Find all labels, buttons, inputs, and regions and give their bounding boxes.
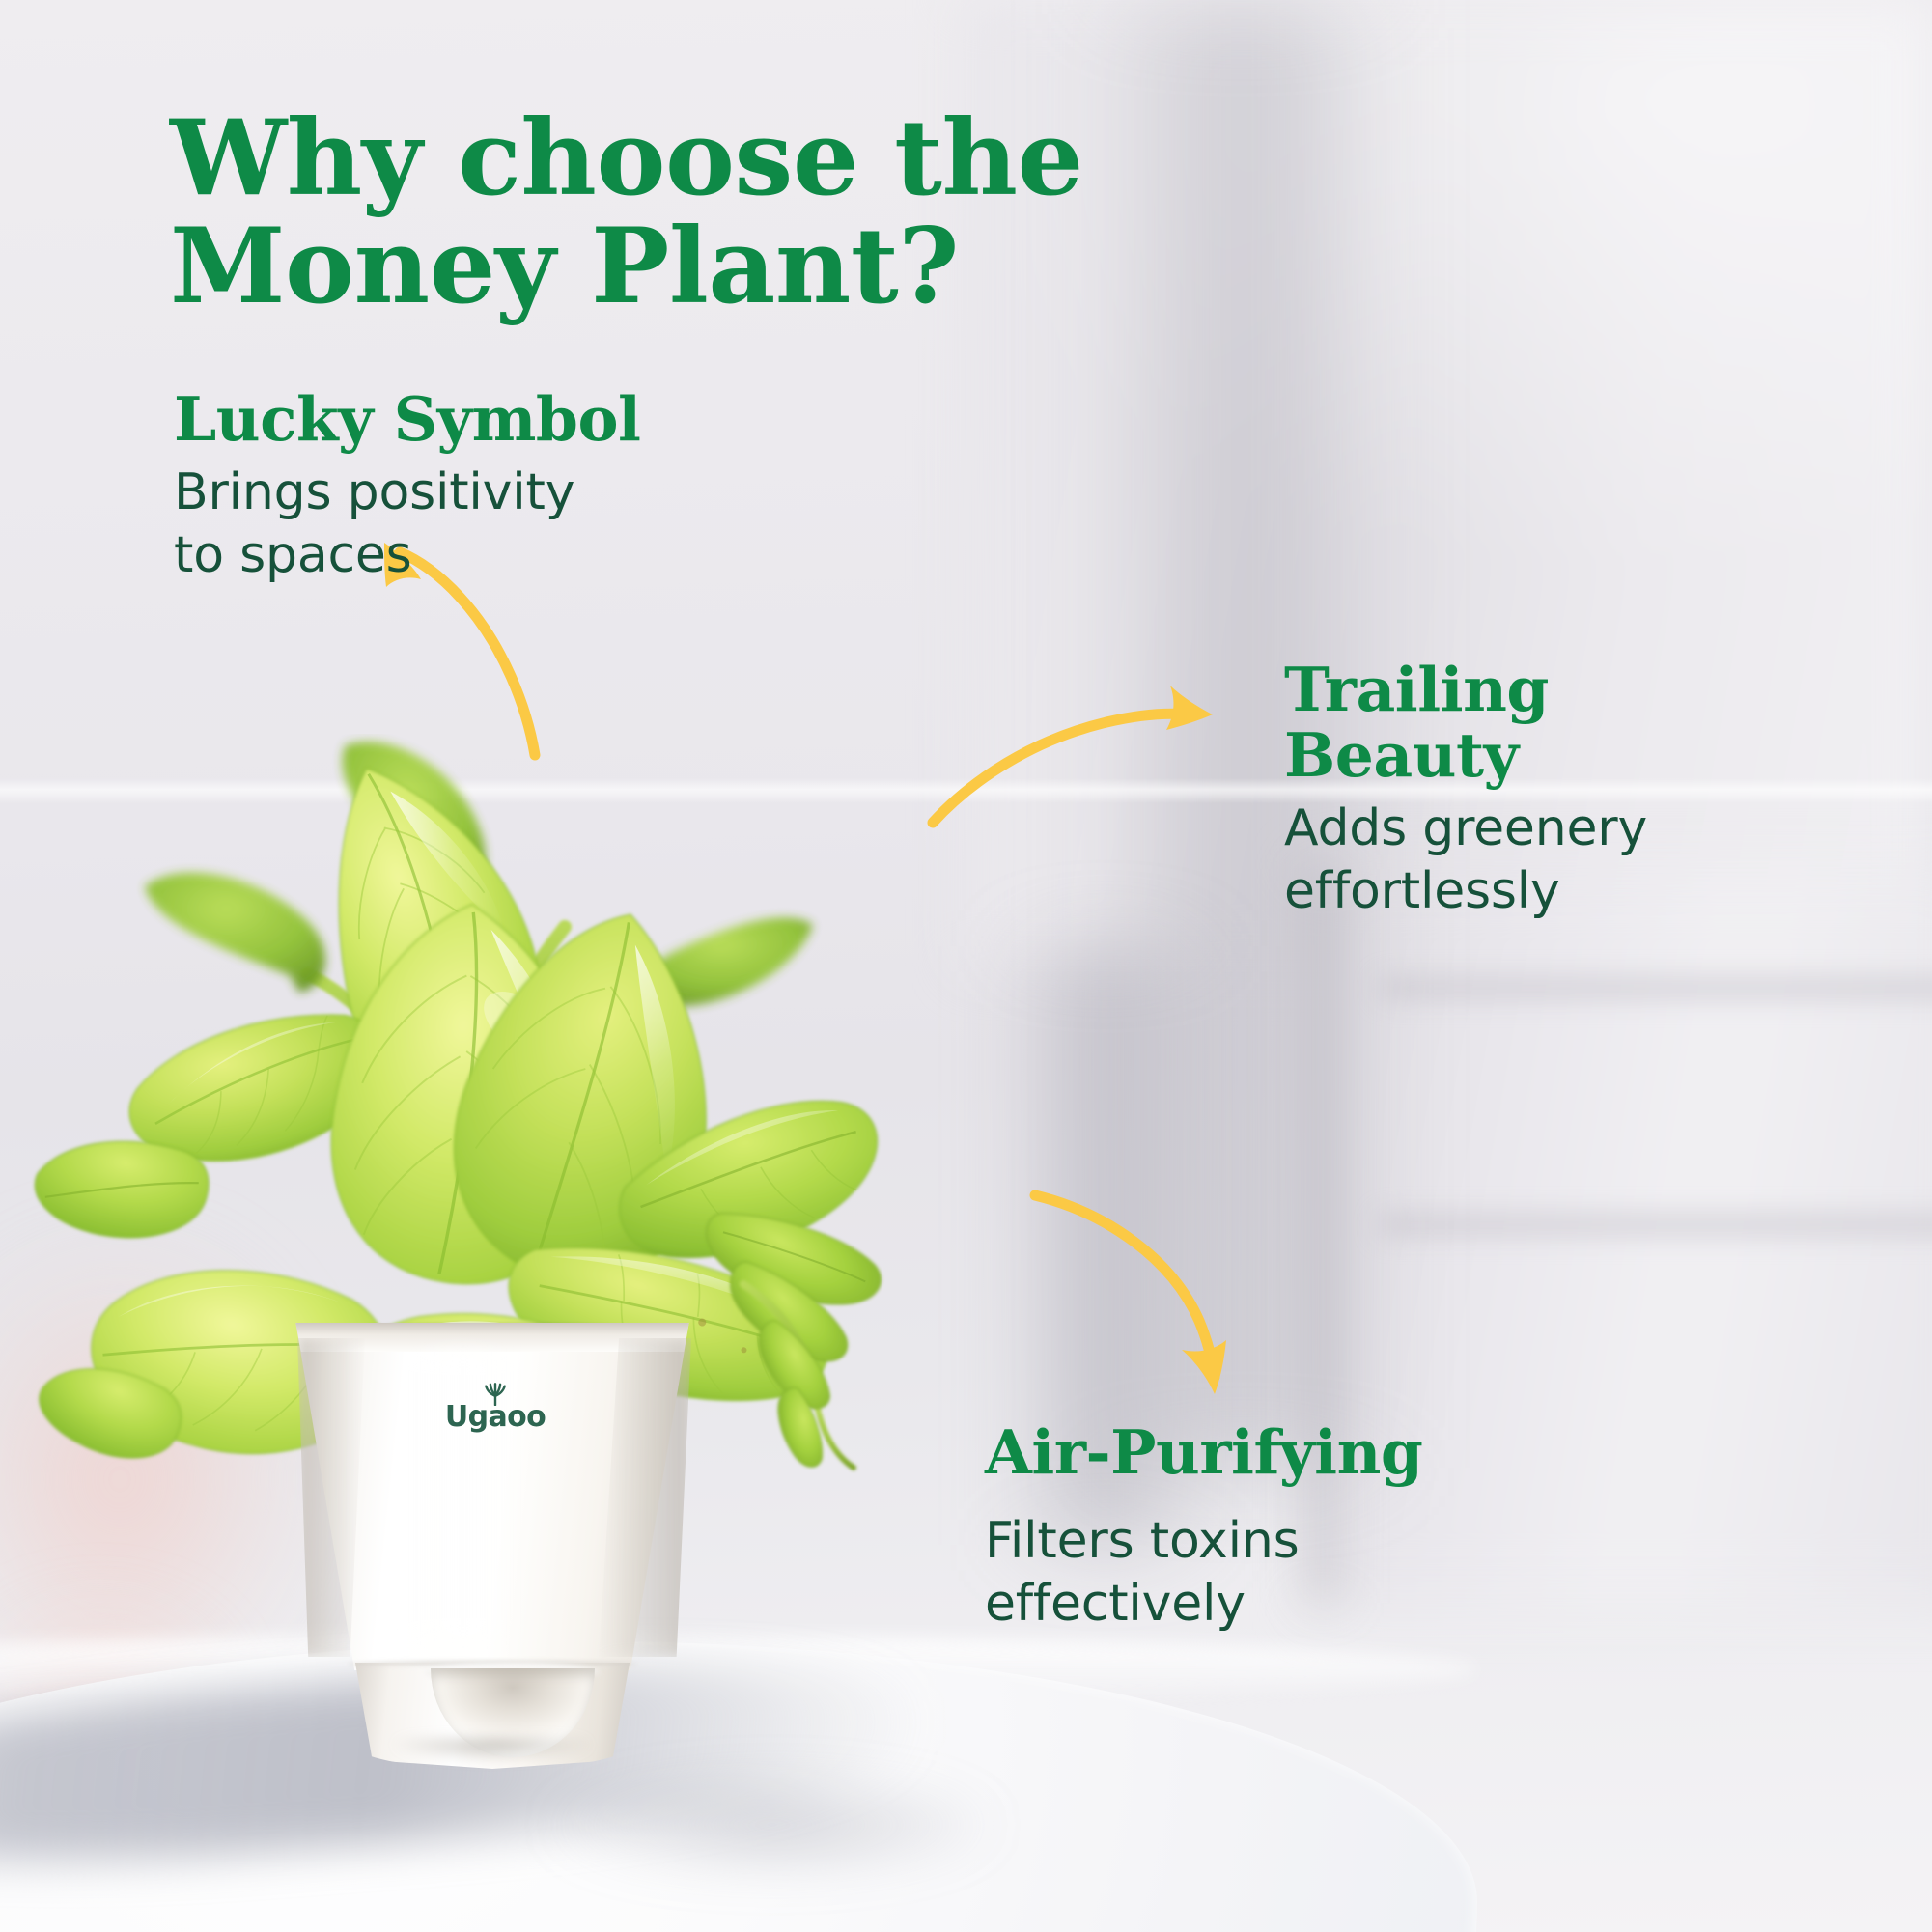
background-drawer-seam-top [1381,975,1932,1000]
callout-description: Adds greenery effortlessly [1284,798,1825,923]
ugaoo-brand-logo: Ugaoo [437,1383,553,1441]
pot-bottom-shading [357,1738,628,1771]
callout-title-line: Trailing [1284,657,1825,722]
callout-description-line: effortlessly [1284,860,1825,923]
callout-title: Trailing Beauty [1284,657,1825,788]
plant-pot: Ugaoo [290,1323,695,1777]
callout-description-line: to spaces [174,524,714,587]
callout-description-line: Filters toxins [985,1510,1583,1573]
page-title: Why choose the Money Plant? [170,104,1251,322]
ugaoo-wordmark: Ugaoo [445,1403,546,1432]
callout-description-line: Brings positivity [174,462,714,524]
callout-description-line: Adds greenery [1284,798,1825,860]
background-drawer-seam-bottom [1381,1212,1932,1237]
infographic-poster: Ugaoo Why choose the Money Plant? Lucky … [0,0,1932,1932]
callout-title: Lucky Symbol [174,386,714,452]
page-title-line-1: Why choose the [170,104,1251,212]
callout-title: Air-Purifying [985,1419,1583,1485]
curved-arrow-right-icon [927,676,1236,830]
pot-contact-shadow [463,1767,1081,1883]
callout-air-purifying: Air-Purifying Filters toxins effectively [985,1419,1583,1636]
callout-description: Filters toxins effectively [985,1510,1583,1636]
callout-lucky-symbol: Lucky Symbol Brings positivity to spaces [174,386,714,587]
callout-trailing-beauty: Trailing Beauty Adds greenery effortless… [1284,657,1825,923]
curved-arrow-down-icon [1025,1145,1247,1406]
page-title-line-2: Money Plant? [170,212,1251,321]
callout-description-line: effectively [985,1573,1583,1636]
callout-title-line: Beauty [1284,722,1825,788]
callout-description: Brings positivity to spaces [174,462,714,587]
